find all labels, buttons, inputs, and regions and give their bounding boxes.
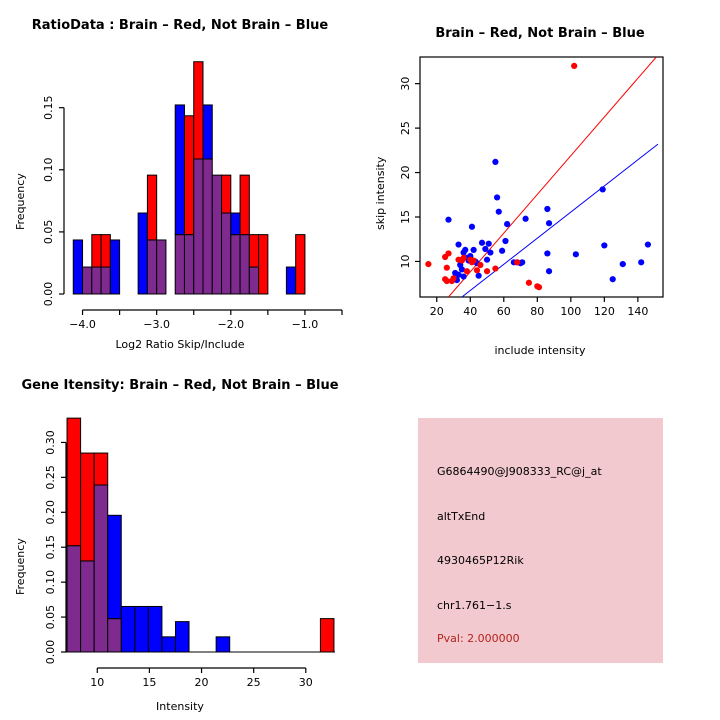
histogram-bar bbox=[231, 235, 240, 294]
scatter-point-notbrain bbox=[638, 259, 644, 265]
histogram-bar bbox=[157, 240, 166, 294]
scatter-point-notbrain bbox=[504, 221, 510, 227]
y-tick-label: 0.10 bbox=[42, 158, 55, 183]
histogram-bar bbox=[92, 235, 101, 267]
scatter-point-notbrain bbox=[601, 242, 607, 248]
histogram-bar bbox=[203, 105, 212, 159]
histogram-bar bbox=[320, 619, 334, 652]
x-tick-label: −2.0 bbox=[217, 318, 244, 331]
histogram-bar bbox=[240, 175, 249, 234]
x-tick-label: 140 bbox=[627, 305, 648, 318]
scatter-point-notbrain bbox=[546, 220, 552, 226]
panel-ratio-histogram: RatioData : Brain – Red, Not Brain – Blu… bbox=[0, 0, 360, 360]
scatter-point-brain bbox=[536, 284, 542, 290]
x-tick-label: −3.0 bbox=[143, 318, 170, 331]
histogram-bar bbox=[184, 116, 193, 235]
scatter-point-brain bbox=[474, 267, 480, 273]
info-probe-id: G6864490@J908333_RC@j_at bbox=[437, 465, 602, 478]
y-tick-label: 15 bbox=[399, 210, 412, 224]
scatter-point-notbrain bbox=[482, 246, 488, 252]
x-tick-label: 60 bbox=[497, 305, 511, 318]
scatter-point-notbrain bbox=[462, 247, 468, 253]
y-tick-label: 0.20 bbox=[44, 500, 57, 525]
histogram-bar bbox=[184, 235, 193, 294]
scatter-point-notbrain bbox=[487, 249, 493, 255]
y-tick-label: 30 bbox=[399, 77, 412, 91]
info-pval: Pval: 2.000000 bbox=[437, 632, 520, 645]
histogram-bar bbox=[249, 267, 258, 294]
histogram-bar bbox=[194, 159, 203, 294]
y-tick-label: 0.10 bbox=[44, 570, 57, 595]
scatter-point-brain bbox=[450, 275, 456, 281]
scatter-point-notbrain bbox=[645, 241, 651, 247]
histogram-bar bbox=[203, 159, 212, 294]
scatter-point-notbrain bbox=[600, 186, 606, 192]
histogram-bar bbox=[222, 213, 231, 294]
histogram-bar bbox=[175, 235, 184, 294]
scatter-point-brain bbox=[464, 268, 470, 274]
histogram-bar bbox=[67, 418, 81, 546]
y-tick-label: 0.00 bbox=[44, 640, 57, 665]
scatter-point-brain bbox=[460, 255, 466, 261]
x-tick-label: 25 bbox=[247, 676, 261, 689]
histogram-bar bbox=[138, 213, 147, 294]
info-box-background bbox=[418, 418, 663, 663]
histogram-bar bbox=[212, 175, 221, 294]
histogram-bar bbox=[101, 267, 110, 294]
scatter-point-notbrain bbox=[479, 240, 485, 246]
gene-histogram-plot: 0.000.050.100.150.200.250.301015202530 bbox=[0, 360, 360, 700]
y-tick-label: 10 bbox=[399, 254, 412, 268]
histogram-bar bbox=[231, 213, 240, 235]
histogram-bar bbox=[108, 619, 122, 652]
histogram-bar bbox=[259, 235, 268, 294]
histogram-bar bbox=[175, 622, 189, 652]
y-tick-label: 25 bbox=[399, 121, 412, 135]
scatter-point-notbrain bbox=[492, 159, 498, 165]
figure-canvas: RatioData : Brain – Red, Not Brain – Blu… bbox=[0, 0, 720, 720]
scatter-point-notbrain bbox=[544, 250, 550, 256]
scatter-point-brain bbox=[526, 280, 532, 286]
y-tick-label: 0.30 bbox=[44, 430, 57, 455]
scatter-point-notbrain bbox=[484, 257, 490, 263]
info-gene-symbol: 4930465P12Rik bbox=[437, 554, 524, 567]
histogram-bar bbox=[175, 105, 184, 235]
histogram-bar bbox=[73, 240, 82, 294]
scatter-point-brain bbox=[444, 265, 450, 271]
scatter-point-notbrain bbox=[494, 194, 500, 200]
x-tick-label: 120 bbox=[594, 305, 615, 318]
gene-histogram-xlabel: Intensity bbox=[0, 700, 360, 713]
scatter-point-notbrain bbox=[455, 241, 461, 247]
scatter-point-notbrain bbox=[610, 276, 616, 282]
x-tick-label: 30 bbox=[299, 676, 313, 689]
ratio-histogram-plot: 0.000.050.100.15−4.0−3.0−2.0−1.0 bbox=[0, 0, 360, 340]
scatter-point-brain bbox=[425, 261, 431, 267]
info-event-type: altTxEnd bbox=[437, 510, 485, 523]
scatter-xlabel: include intensity bbox=[360, 344, 720, 357]
x-tick-label: 100 bbox=[560, 305, 581, 318]
x-tick-label: 80 bbox=[530, 305, 544, 318]
scatter-point-notbrain bbox=[476, 273, 482, 279]
scatter-point-notbrain bbox=[499, 248, 505, 254]
x-tick-label: 20 bbox=[430, 305, 444, 318]
histogram-bar bbox=[81, 453, 95, 561]
histogram-bar bbox=[83, 267, 92, 294]
histogram-bar bbox=[216, 637, 230, 652]
histogram-bar bbox=[162, 637, 176, 652]
brain-fit-line bbox=[448, 57, 656, 297]
notbrain-fit-line bbox=[462, 144, 658, 297]
x-tick-label: −4.0 bbox=[69, 318, 96, 331]
panel-annotation-info: G6864490@J908333_RC@j_at altTxEnd 493046… bbox=[360, 360, 720, 720]
scatter-point-notbrain bbox=[486, 241, 492, 247]
histogram-bar bbox=[110, 240, 119, 294]
scatter-point-notbrain bbox=[445, 217, 451, 223]
scatter-point-notbrain bbox=[469, 224, 475, 230]
scatter-point-brain bbox=[514, 259, 520, 265]
y-tick-label: 0.25 bbox=[44, 465, 57, 490]
histogram-bar bbox=[240, 235, 249, 294]
histogram-bar bbox=[222, 175, 231, 213]
x-tick-label: 40 bbox=[463, 305, 477, 318]
scatter-point-notbrain bbox=[573, 251, 579, 257]
histogram-bar bbox=[286, 267, 295, 294]
histogram-bar bbox=[101, 235, 110, 267]
histogram-bar bbox=[94, 485, 108, 652]
scatter-point-notbrain bbox=[544, 206, 550, 212]
histogram-bar bbox=[135, 606, 149, 652]
scatter-point-notbrain bbox=[496, 209, 502, 215]
scatter-point-brain bbox=[571, 63, 577, 69]
panel-intensity-scatter: Brain – Red, Not Brain – Blue include in… bbox=[360, 0, 720, 360]
scatter-point-notbrain bbox=[502, 238, 508, 244]
x-tick-label: 20 bbox=[195, 676, 209, 689]
scatter-point-notbrain bbox=[522, 216, 528, 222]
histogram-bar bbox=[81, 561, 95, 652]
histogram-bar bbox=[249, 235, 258, 267]
histogram-bar bbox=[147, 240, 156, 294]
histogram-bar bbox=[148, 606, 162, 652]
scatter-point-brain bbox=[477, 262, 483, 268]
y-tick-label: 0.05 bbox=[44, 605, 57, 630]
scatter-point-brain bbox=[492, 265, 498, 271]
panel-gene-intensity-histogram: Gene Itensity: Brain – Red, Not Brain – … bbox=[0, 360, 360, 720]
histogram-bar bbox=[92, 267, 101, 294]
scatter-point-notbrain bbox=[546, 268, 552, 274]
scatter-point-notbrain bbox=[460, 273, 466, 279]
y-tick-label: 20 bbox=[399, 166, 412, 180]
scatter-point-notbrain bbox=[471, 247, 477, 253]
histogram-bar bbox=[108, 515, 122, 618]
y-tick-label: 0.15 bbox=[44, 535, 57, 560]
x-tick-label: −1.0 bbox=[292, 318, 319, 331]
info-locus: chr1.761−1.s bbox=[437, 599, 511, 612]
scatter-plot: 101520253020406080100120140 bbox=[360, 0, 720, 345]
scatter-point-notbrain bbox=[620, 261, 626, 267]
histogram-bar bbox=[296, 235, 305, 294]
y-tick-label: 0.00 bbox=[42, 282, 55, 307]
x-tick-label: 15 bbox=[142, 676, 156, 689]
y-tick-label: 0.05 bbox=[42, 220, 55, 245]
scatter-point-notbrain bbox=[452, 270, 458, 276]
x-tick-label: 10 bbox=[90, 676, 104, 689]
histogram-bar bbox=[94, 453, 108, 485]
histogram-bar bbox=[67, 546, 81, 652]
histogram-bar bbox=[194, 62, 203, 159]
scatter-point-brain bbox=[484, 268, 490, 274]
histogram-bar bbox=[147, 175, 156, 240]
scatter-point-brain bbox=[469, 259, 475, 265]
y-tick-label: 0.15 bbox=[42, 95, 55, 120]
scatter-point-brain bbox=[445, 250, 451, 256]
histogram-bar bbox=[121, 606, 135, 652]
